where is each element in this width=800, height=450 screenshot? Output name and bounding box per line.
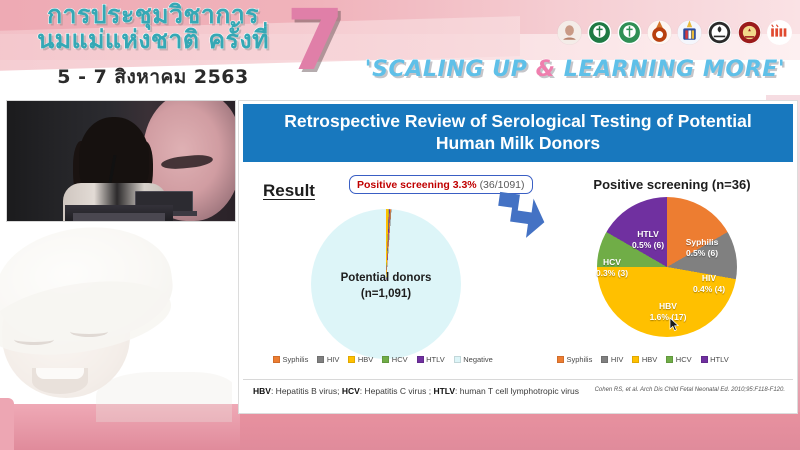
abbr-htlv-def: : human T cell lymphotropic virus [455, 386, 579, 396]
conference-edition-number: 7 [286, 0, 344, 82]
legend2-item-hcv: HCV [666, 355, 691, 364]
sponsor-logo-6-icon [707, 20, 732, 45]
legend2-swatch-hcv [666, 356, 673, 363]
legend-swatch-hcv [382, 356, 389, 363]
slide-footnote: HBV: Hepatitis B virus; HCV: Hepatitis C… [243, 379, 793, 409]
pie-slice-label-syphilis: Syphilis 0.5% (6) [673, 237, 731, 259]
positive-screening-pie-title: Positive screening (n=36) [557, 177, 787, 192]
legend-item-hcv: HCV [382, 355, 407, 364]
legend2-item-syphilis: Syphilis [557, 355, 592, 364]
legend-swatch-hiv [317, 356, 324, 363]
pie-slice-label-hbv: HBV 1.6% (17) [633, 301, 703, 323]
htlv-label-name: HTLV [623, 229, 673, 240]
slide-title: Retrospective Review of Serological Test… [243, 104, 793, 162]
potential-donors-label-line1: Potential donors [311, 271, 461, 287]
legend-item-htlv: HTLV [417, 355, 445, 364]
pie-slice-label-hiv: HIV 0.4% (4) [685, 273, 733, 295]
legend-swatch-syphilis [273, 356, 280, 363]
child-teeth [36, 368, 84, 379]
abbreviation-note: HBV: Hepatitis B virus; HCV: Hepatitis C… [253, 386, 579, 396]
legend-item-negative: Negative [454, 355, 493, 364]
conference-date: 5 - 7 สิงหาคม 2563 [18, 62, 288, 92]
positive-screening-legend: Syphilis HIV HBV HCV HTLV [557, 355, 729, 364]
potential-donors-legend: Syphilis HIV HBV HCV HTLV Negative [273, 355, 493, 364]
abbr-hcv-def: : Hepatitis C virus ; [360, 386, 434, 396]
hcv-label-name: HCV [589, 257, 635, 268]
screenshot-stage: การประชุมวิชาการ นมแม่แห่งชาติ ครั้งที่ … [0, 0, 800, 450]
child-eye-left [14, 334, 54, 345]
legend2-label-htlv: HTLV [710, 355, 729, 364]
tagline-ampersand: & [536, 57, 556, 82]
child-mouth [32, 368, 88, 394]
legend-label-hbv: HBV [358, 355, 373, 364]
legend-item-syphilis: Syphilis [273, 355, 308, 364]
source-citation: Cohen RS, et al. Arch Dis Child Fetal Ne… [595, 387, 785, 393]
tagline-part-2: LEARNING MORE' [556, 57, 786, 82]
hcv-label-value: 0.3% (3) [589, 268, 635, 279]
conference-thai-title: การประชุมวิชาการ นมแม่แห่งชาติ ครั้งที่ [18, 2, 288, 52]
sponsor-logo-2-icon [587, 20, 612, 45]
hiv-label-value: 0.4% (4) [685, 284, 733, 295]
legend2-label-hcv: HCV [676, 355, 692, 364]
child-shoulder [96, 372, 232, 422]
result-heading: Result [263, 181, 315, 201]
conference-header-banner: การประชุมวิชาการ นมแม่แห่งชาติ ครั้งที่ … [0, 0, 800, 95]
abbr-hbv: HBV [253, 386, 271, 396]
legend2-item-hbv: HBV [632, 355, 657, 364]
child-eye-right [70, 326, 108, 337]
sponsor-logo-5-icon [677, 20, 702, 45]
abbr-hbv-def: : Hepatitis B virus; [271, 386, 342, 396]
legend2-label-hbv: HBV [642, 355, 657, 364]
sponsor-logo-3-icon [617, 20, 642, 45]
potential-donors-center-label: Potential donors (n=1,091) [311, 271, 461, 302]
legend2-item-htlv: HTLV [701, 355, 729, 364]
thai-title-line-2: นมแม่แห่งชาติ ครั้งที่ [18, 27, 288, 53]
legend-label-htlv: HTLV [426, 355, 445, 364]
legend2-label-hiv: HIV [611, 355, 624, 364]
hbv-label-name: HBV [633, 301, 703, 312]
legend-swatch-htlv [417, 356, 424, 363]
sponsor-logo-8-icon [767, 20, 792, 45]
callout-highlight: Positive screening 3.3% [357, 179, 477, 191]
pie-slice-label-hcv: HCV 0.3% (3) [589, 257, 635, 279]
conference-tagline: 'SCALING UP & LEARNING MORE' [360, 57, 790, 82]
callout-detail: (36/1091) [480, 179, 525, 191]
legend-swatch-hbv [348, 356, 355, 363]
sponsor-logo-7-icon [737, 20, 762, 45]
legend2-swatch-htlv [701, 356, 708, 363]
hbv-label-value: 1.6% (17) [633, 312, 703, 323]
legend-label-hcv: HCV [392, 355, 408, 364]
abbr-htlv: HTLV [433, 386, 455, 396]
potential-donors-label-line2: (n=1,091) [311, 287, 461, 303]
legend-item-hbv: HBV [348, 355, 373, 364]
legend2-swatch-hiv [601, 356, 608, 363]
podium-front [73, 213, 165, 222]
legend-label-hiv: HIV [327, 355, 340, 364]
syphilis-label-name: Syphilis [673, 237, 731, 248]
positive-screening-pie-chart: Syphilis 0.5% (6) HIV 0.4% (4) HBV 1.6% … [597, 197, 737, 337]
presentation-slide: Retrospective Review of Serological Test… [238, 100, 798, 414]
legend-swatch-negative [454, 356, 461, 363]
tagline-part-1: 'SCALING UP [365, 57, 536, 82]
child-watermark-photo [0, 222, 232, 422]
htlv-label-value: 0.5% (6) [623, 240, 673, 251]
legend2-swatch-syphilis [557, 356, 564, 363]
legend-label-syphilis: Syphilis [283, 355, 309, 364]
legend-label-negative: Negative [463, 355, 493, 364]
speaker-video-panel[interactable] [6, 100, 236, 222]
legend2-label-syphilis: Syphilis [567, 355, 593, 364]
sponsor-logo-4-icon [647, 20, 672, 45]
pie-slice-label-htlv: HTLV 0.5% (6) [623, 229, 673, 251]
abbr-hcv: HCV [342, 386, 360, 396]
hiv-label-name: HIV [685, 273, 733, 284]
legend-item-hiv: HIV [317, 355, 339, 364]
syphilis-label-value: 0.5% (6) [673, 248, 731, 259]
legend2-item-hiv: HIV [601, 355, 623, 364]
sponsor-logos-row [557, 20, 792, 45]
sponsor-logo-1-icon [557, 20, 582, 45]
potential-donors-pie-chart: Potential donors (n=1,091) [311, 209, 461, 359]
legend2-swatch-hbv [632, 356, 639, 363]
mouse-cursor-icon [669, 317, 680, 332]
blue-arrow-icon [495, 191, 547, 241]
